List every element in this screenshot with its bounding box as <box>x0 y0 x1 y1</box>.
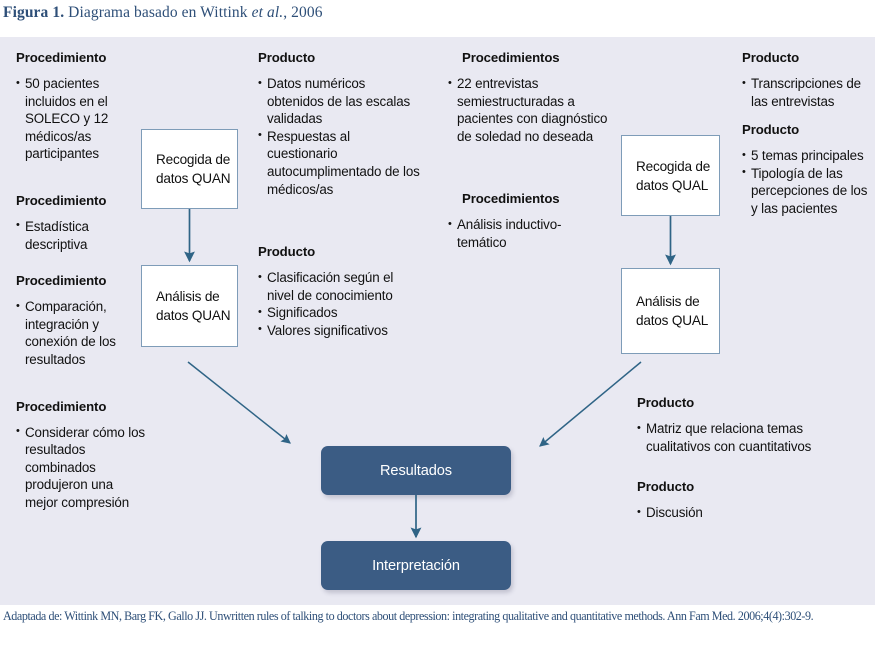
list-item: Significados <box>258 304 423 322</box>
list-item: Valores significativos <box>258 322 423 340</box>
box-interpretacion: Interpretación <box>321 541 511 590</box>
column-producto-quan: Producto Datos numéricos obtenidos de la… <box>258 50 423 356</box>
block-list: Considerar cómo los resultados combinado… <box>16 424 146 512</box>
figure-title-text-pre: Diagrama basado en Wittink <box>64 4 251 21</box>
list-item: Estadística descriptiva <box>16 218 146 253</box>
block-list: Análisis inductivo-temático <box>448 216 608 251</box>
list-item: 50 pacientes incluidos en el SOLECO y 12… <box>16 75 146 163</box>
block-list: Estadística descriptiva <box>16 218 146 253</box>
block-list: Discusión <box>637 504 817 522</box>
arrow-quan-to-resultados <box>188 362 290 443</box>
block-heading: Procedimientos <box>462 191 608 207</box>
box-analisis-datos-quan: Análisis de datos QUAN <box>141 265 238 347</box>
column-producto-qual: Producto Transcripciones de las entrevis… <box>742 50 874 234</box>
block-heading: Producto <box>258 244 423 260</box>
block-list: Datos numéricos obtenidos de las escalas… <box>258 75 423 198</box>
list-item: Comparación, integración y conexión de l… <box>16 298 146 368</box>
figure-title-text-post: , 2006 <box>283 4 322 21</box>
list-item: Considerar cómo los resultados combinado… <box>16 424 146 512</box>
block-heading: Procedimiento <box>16 193 146 209</box>
list-item: 5 temas principales <box>742 147 874 165</box>
block-list: Matriz que relaciona temas cualitativos … <box>637 420 817 455</box>
list-item: Tipología de las percepciones de los y l… <box>742 165 874 218</box>
block-heading: Producto <box>742 50 874 66</box>
block-heading: Producto <box>258 50 423 66</box>
list-item: Datos numéricos obtenidos de las escalas… <box>258 75 423 128</box>
list-item: Respuestas al cuestionario autocumplimen… <box>258 128 423 198</box>
block-list: 5 temas principales Tipología de las per… <box>742 147 874 217</box>
box-analisis-datos-qual: Análisis de datos QUAL <box>621 268 720 354</box>
arrow-qual-to-resultados <box>540 362 641 446</box>
block-list: Comparación, integración y conexión de l… <box>16 298 146 368</box>
block-heading: Procedimientos <box>462 50 608 66</box>
block-heading: Producto <box>742 122 874 138</box>
column-procedimiento-quan: Procedimiento 50 pacientes incluidos en … <box>16 50 146 528</box>
list-item: Discusión <box>637 504 817 522</box>
block-heading: Producto <box>637 479 817 495</box>
list-item: Matriz que relaciona temas cualitativos … <box>637 420 817 455</box>
figure-title-label: Figura 1. <box>3 4 64 21</box>
block-heading: Procedimiento <box>16 50 146 66</box>
block-list: Clasificación según el nivel de conocimi… <box>258 269 423 339</box>
source-note: Adaptada de: Wittink MN, Barg FK, Gallo … <box>3 608 840 624</box>
figure-title: Figura 1. Diagrama basado en Wittink et … <box>3 4 863 34</box>
box-recogida-datos-quan: Recogida de datos QUAN <box>141 129 238 209</box>
column-producto-mixto: Producto Matriz que relaciona temas cual… <box>637 395 817 538</box>
list-item: Transcripciones de las entrevistas <box>742 75 874 110</box>
figure-page: Figura 1. Diagrama basado en Wittink et … <box>0 0 875 646</box>
column-procedimientos-qual: Procedimientos 22 entrevistas semiestruc… <box>448 50 608 268</box>
list-item: Clasificación según el nivel de conocimi… <box>258 269 423 304</box>
block-list: 50 pacientes incluidos en el SOLECO y 12… <box>16 75 146 163</box>
figure-title-italic: et al. <box>252 4 284 21</box>
box-resultados: Resultados <box>321 446 511 495</box>
box-recogida-datos-qual: Recogida de datos QUAL <box>621 135 720 216</box>
block-heading: Producto <box>637 395 817 411</box>
block-list: Transcripciones de las entrevistas <box>742 75 874 110</box>
list-item: Análisis inductivo-temático <box>448 216 608 251</box>
list-item: 22 entrevistas semiestructuradas a pacie… <box>448 75 608 145</box>
block-list: 22 entrevistas semiestructuradas a pacie… <box>448 75 608 145</box>
block-heading: Procedimiento <box>16 399 146 415</box>
block-heading: Procedimiento <box>16 273 146 289</box>
diagram-canvas: Procedimiento 50 pacientes incluidos en … <box>0 37 875 605</box>
